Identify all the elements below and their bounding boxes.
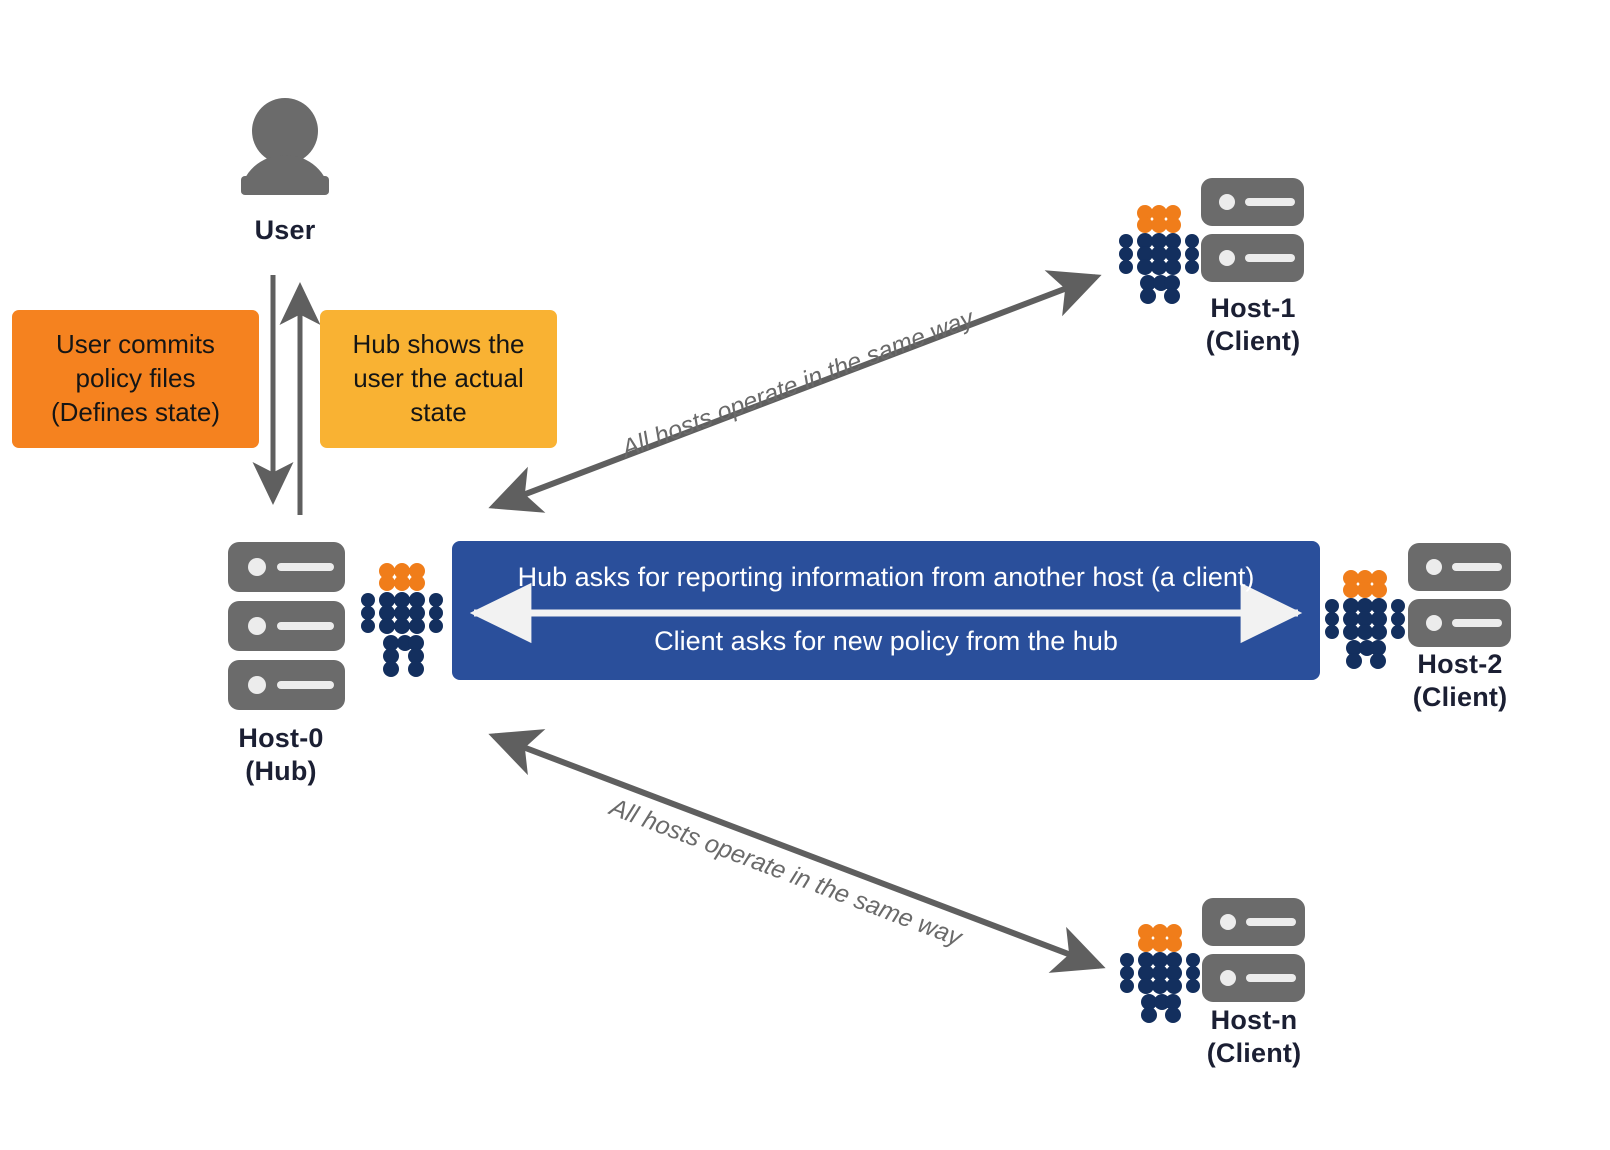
host-0-server-stack-icon (228, 542, 345, 710)
banner-line-bottom: Client asks for new policy from the hub (452, 626, 1320, 657)
host-0-ansible-robot-icon (361, 563, 443, 677)
host-2-label: Host-2 (Client) (1360, 648, 1560, 714)
host-1-server-stack-icon (1201, 178, 1304, 282)
callout-user-commits: User commits policy files (Defines state… (12, 310, 259, 448)
host-2-server-stack-icon (1408, 543, 1511, 647)
host-n-server-stack-icon (1202, 898, 1305, 1002)
callout-hub-shows: Hub shows the user the actual state (320, 310, 557, 448)
host-0-label: Host-0 (Hub) (181, 722, 381, 788)
user-label: User (185, 214, 385, 247)
user-person-icon (241, 98, 329, 195)
banner-text-group: Hub asks for reporting information from … (452, 541, 1320, 680)
host-1-ansible-robot-icon (1119, 205, 1199, 304)
diagram-canvas: User User commits policy files (Defines … (0, 0, 1610, 1150)
host-n-label: Host-n (Client) (1154, 1004, 1354, 1070)
diagonal-arrow-hub-to-host-n (494, 736, 1100, 966)
host-1-label: Host-1 (Client) (1153, 292, 1353, 358)
banner-line-top: Hub asks for reporting information from … (452, 562, 1320, 593)
